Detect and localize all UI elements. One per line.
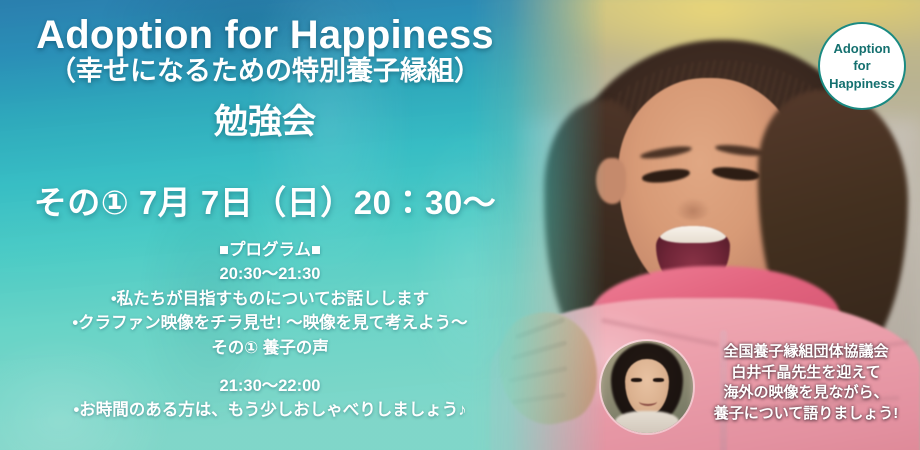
speaker-portrait: [601, 341, 693, 433]
logo-badge-line-3: Happiness: [829, 75, 895, 92]
program-spacer: [0, 360, 540, 374]
page-title-third-line: 勉強会: [0, 103, 530, 142]
portrait-smile: [639, 397, 657, 406]
logo-badge-line-1: Adoption: [833, 40, 890, 57]
logo-badge-line-2: for: [853, 57, 870, 74]
page-title: Adoption for Happiness: [0, 14, 530, 56]
child-nose: [676, 198, 710, 220]
speaker-caption-line-2: 海外の映像を見ながら、: [694, 383, 918, 404]
event-banner: Adoption for Happiness （幸せになるための特別養子縁組） …: [0, 0, 920, 450]
event-date-line: その① 7月 7日（日）20：30〜: [0, 176, 530, 224]
speaker-caption-line-0: 全国養子縁組団体協議会: [694, 342, 918, 363]
portrait-eye-left: [631, 378, 642, 382]
speaker-caption-line-1: 白井千晶先生を迎えて: [694, 363, 918, 384]
speaker-caption-line-3: 養子について語りましょう!: [694, 404, 918, 425]
page-subtitle: （幸せになるための特別養子縁組）: [0, 57, 530, 87]
child-teeth: [660, 226, 726, 243]
program-block1-item-0: •私たちが目指すものについてお話しします: [0, 287, 540, 311]
program-block2-time: 21:30〜22:00: [0, 374, 540, 398]
text-content: Adoption for Happiness （幸せになるための特別養子縁組） …: [0, 0, 540, 450]
program-heading: ■プログラム■: [0, 238, 540, 262]
portrait-eye-right: [653, 378, 664, 382]
program-block1-item-1: •クラファン映像をチラ見せ! 〜映像を見て考えよう〜: [0, 311, 540, 335]
speaker-caption: 全国養子縁組団体協議会 白井千晶先生を迎えて 海外の映像を見ながら、 養子につい…: [694, 342, 918, 425]
program-block2-item-0: •お時間のある方は、もう少しおしゃべりしましょう♪: [0, 398, 540, 422]
program-block1-time: 20:30〜21:30: [0, 262, 540, 286]
portrait-collar: [615, 411, 679, 433]
program-block: ■プログラム■ 20:30〜21:30 •私たちが目指すものについてお話しします…: [0, 238, 540, 423]
logo-badge: Adoption for Happiness: [818, 22, 906, 110]
program-block1-item-2: その① 養子の声: [0, 336, 540, 360]
